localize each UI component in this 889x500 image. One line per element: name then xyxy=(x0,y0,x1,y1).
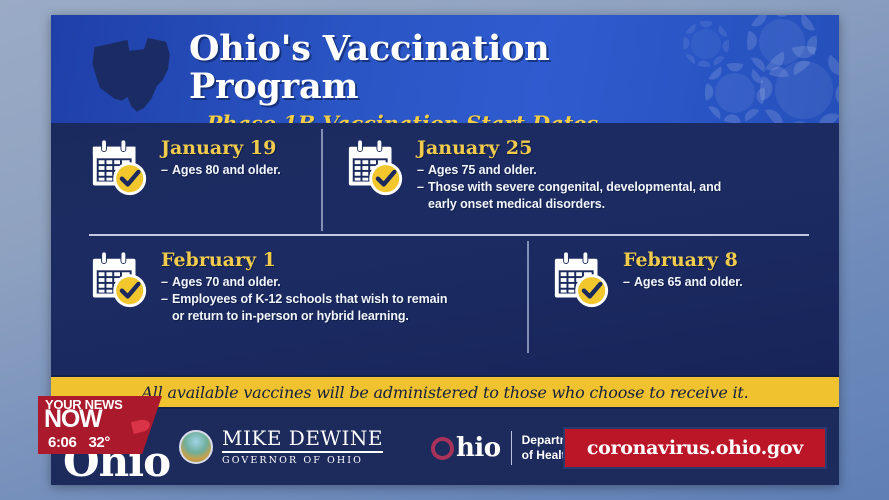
ohio-state-outline-icon xyxy=(87,27,179,119)
list-item: – Ages 70 and older. xyxy=(161,274,447,291)
bullet-dash: – xyxy=(417,179,428,213)
entry-date: January 19 xyxy=(161,139,281,159)
calendar-check-icon xyxy=(89,249,151,311)
bullet-text: Ages 70 and older. xyxy=(172,274,281,291)
schedule-entry: January 19 – Ages 80 and older. xyxy=(51,131,323,231)
entry-text: February 1 – Ages 70 and older. – Employ… xyxy=(151,247,447,325)
ohio-o-ring-icon xyxy=(431,437,454,460)
entry-date: January 25 xyxy=(417,139,721,159)
entry-bullets: – Ages 70 and older. – Employees of K-12… xyxy=(161,274,447,325)
ohio-state-seal-icon xyxy=(179,430,213,464)
bullet-text: Employees of K-12 schools that wish to r… xyxy=(172,291,447,325)
governor-logo: MIKE DEWINE GOVERNOR OF OHIO xyxy=(179,428,383,466)
availability-banner: All available vaccines will be administe… xyxy=(51,375,839,409)
list-item: – Ages 80 and older. xyxy=(161,162,281,179)
banner-text: All available vaccines will be administe… xyxy=(141,383,748,402)
bullet-text: Ages 65 and older. xyxy=(634,274,743,291)
page-title: Ohio's Vaccination Program xyxy=(189,30,719,106)
bullet-text: Ages 75 and older. xyxy=(428,162,537,179)
virus-particle-icon xyxy=(715,73,755,113)
vaccination-infographic-card: Ohio's Vaccination Program – Phase 1B Va… xyxy=(51,15,839,485)
schedule-entry: February 8 – Ages 65 and older. xyxy=(529,243,823,353)
entry-bullets: – Ages 75 and older. – Those with severe… xyxy=(417,162,721,213)
calendar-check-icon xyxy=(89,137,151,199)
divider xyxy=(222,451,383,453)
list-item: – Those with severe congenital, developm… xyxy=(417,179,721,213)
calendar-check-icon xyxy=(345,137,407,199)
list-item: – Ages 75 and older. xyxy=(417,162,721,179)
infographic-header: Ohio's Vaccination Program – Phase 1B Va… xyxy=(51,15,839,123)
governor-role: GOVERNOR OF OHIO xyxy=(222,456,383,466)
virus-particle-icon xyxy=(775,61,833,119)
schedule-row-bottom: February 1 – Ages 70 and older. – Employ… xyxy=(51,243,839,353)
website-url-box[interactable]: coronavirus.ohio.gov xyxy=(563,427,827,469)
entry-date: February 8 xyxy=(623,251,743,271)
schedule-row-top: January 19 – Ages 80 and older. xyxy=(51,131,839,231)
bullet-dash: – xyxy=(417,162,428,179)
entry-date: February 1 xyxy=(161,251,447,271)
bullet-text: Ages 80 and older. xyxy=(172,162,281,179)
governor-wordmark: MIKE DEWINE GOVERNOR OF OHIO xyxy=(222,428,383,466)
infographic-footer: Ohio MIKE DEWINE GOVERNOR OF OHIO hio De… xyxy=(51,411,839,485)
news-bug-info: 6:06 32° xyxy=(48,434,110,451)
news-station-bug: YOUR NEWS NOW 6:06 32° xyxy=(38,396,162,454)
governor-name: MIKE DEWINE xyxy=(222,428,383,448)
entry-bullets: – Ages 65 and older. xyxy=(623,274,743,291)
entry-text: January 19 – Ages 80 and older. xyxy=(151,135,281,179)
bullet-dash: – xyxy=(161,274,172,291)
entry-text: February 8 – Ages 65 and older. xyxy=(613,247,743,291)
header-titles: Ohio's Vaccination Program – Phase 1B Va… xyxy=(189,30,719,123)
divider xyxy=(511,431,512,465)
temperature-reading: 32° xyxy=(88,434,109,451)
schedule-entry: January 25 – Ages 75 and older. – Those … xyxy=(323,131,823,231)
website-url: coronavirus.ohio.gov xyxy=(587,437,803,459)
clock-time: 6:06 xyxy=(48,434,76,451)
entry-text: January 25 – Ages 75 and older. – Those … xyxy=(407,135,721,213)
news-bug-line-2: NOW xyxy=(44,407,102,432)
odh-brand-text: hio xyxy=(456,435,501,461)
odh-ohio-wordmark: hio xyxy=(431,435,501,461)
schedule-body: January 19 – Ages 80 and older. xyxy=(51,123,839,375)
page-subtitle: – Phase 1B Vaccination Start Dates xyxy=(189,111,719,123)
list-item: – Ages 65 and older. xyxy=(623,274,743,291)
entry-bullets: – Ages 80 and older. xyxy=(161,162,281,179)
bullet-dash: – xyxy=(623,274,634,291)
list-item: – Employees of K-12 schools that wish to… xyxy=(161,291,447,325)
calendar-check-icon xyxy=(551,249,613,311)
bullet-dash: – xyxy=(161,162,172,179)
horizontal-divider xyxy=(89,234,809,236)
schedule-entry: February 1 – Ages 70 and older. – Employ… xyxy=(51,243,529,353)
bullet-dash: – xyxy=(161,291,172,325)
bullet-text: Those with severe congenital, developmen… xyxy=(428,179,721,213)
